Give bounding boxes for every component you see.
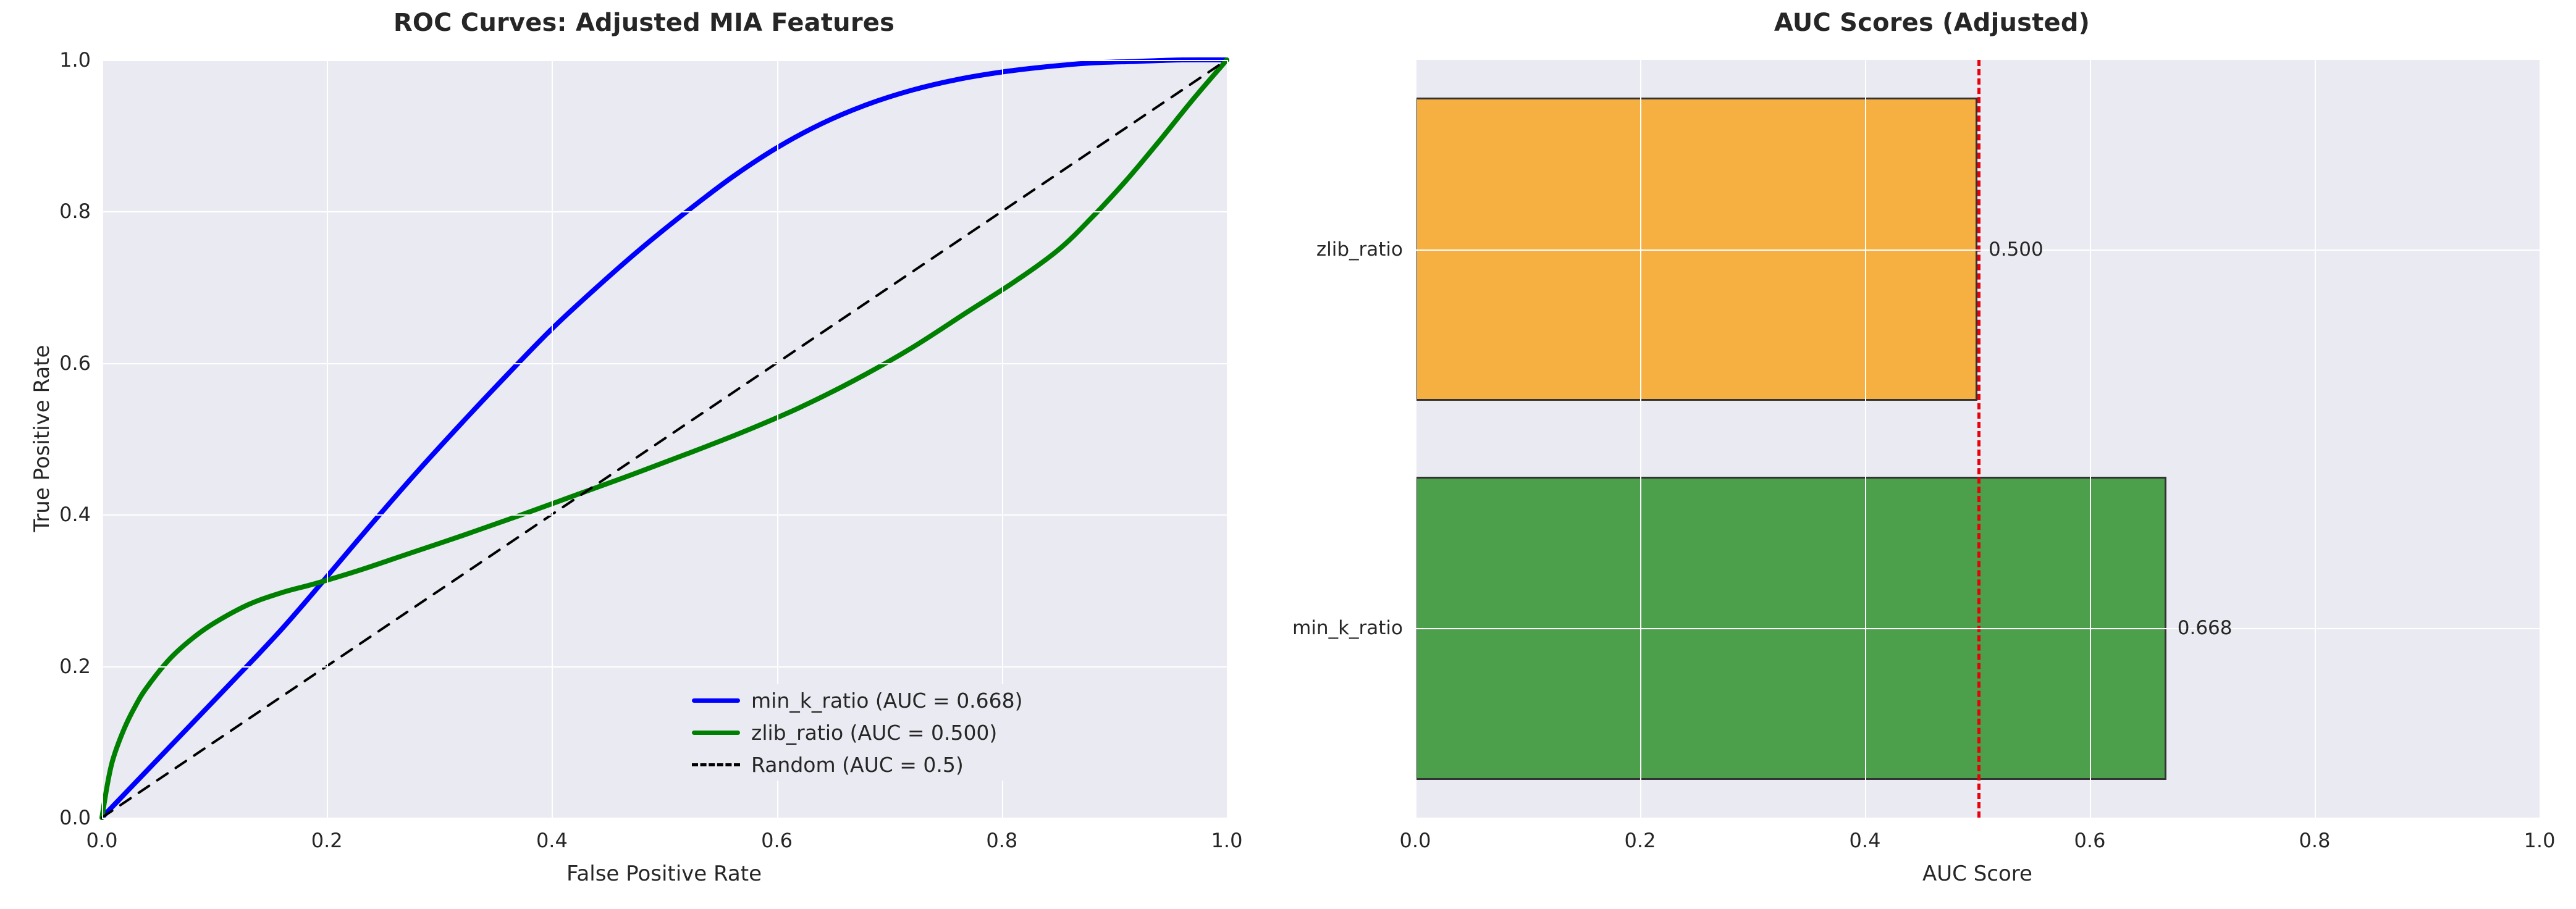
roc-xtick-label: 0.8 (986, 829, 1017, 852)
gridline-vertical (1415, 60, 1416, 818)
legend-item-label: Random (AUC = 0.5) (751, 753, 964, 777)
roc-xtick-label: 0.4 (536, 829, 568, 852)
roc-ytick-label: 1.0 (22, 48, 91, 72)
auc-reference-line (1977, 60, 1980, 818)
gridline-vertical (1865, 60, 1866, 818)
auc-category-label: zlib_ratio (1261, 238, 1403, 261)
auc-xtick-label: 0.6 (2074, 829, 2106, 852)
legend-item[interactable]: zlib_ratio (AUC = 0.500) (692, 716, 1124, 748)
roc-legend: min_k_ratio (AUC = 0.668)zlib_ratio (AUC… (692, 684, 1124, 781)
auc-xtick-label: 1.0 (2524, 829, 2556, 852)
auc-xtick-label: 0.2 (1625, 829, 1656, 852)
legend-line-icon (692, 751, 740, 778)
roc-xtick-label: 0.2 (311, 829, 343, 852)
roc-chart-title: ROC Curves: Adjusted MIA Features (0, 9, 1288, 37)
gridline-horizontal (102, 666, 1227, 668)
auc-xtick-label: 0.8 (2299, 829, 2331, 852)
gridline-vertical (1227, 60, 1228, 818)
gridline-vertical (552, 60, 553, 818)
gridline-horizontal (102, 211, 1227, 212)
legend-item-label: zlib_ratio (AUC = 0.500) (751, 721, 997, 745)
auc-chart-title: AUC Scores (Adjusted) (1288, 9, 2576, 37)
gridline-horizontal (1415, 249, 2540, 251)
auc-value-label: 0.668 (2178, 617, 2233, 639)
auc-category-label: min_k_ratio (1261, 617, 1403, 639)
panel-roc-curves: ROC Curves: Adjusted MIA Features 0.00.2… (0, 0, 1288, 909)
gridline-horizontal (102, 514, 1227, 516)
panel-auc-scores: AUC Scores (Adjusted) 0.00.20.40.60.81.0… (1288, 0, 2576, 909)
legend-item-label: min_k_ratio (AUC = 0.668) (751, 689, 1023, 713)
roc-yaxis-label: True Positive Rate (30, 345, 54, 532)
gridline-vertical (102, 60, 103, 818)
auc-plot-area (1415, 60, 2540, 818)
auc-value-label: 0.500 (1989, 238, 2044, 261)
auc-xtick-label: 0.4 (1850, 829, 1881, 852)
gridline-vertical (1640, 60, 1641, 818)
gridline-vertical (327, 60, 328, 818)
roc-ytick-label: 0.0 (22, 806, 91, 829)
legend-line-icon (692, 719, 740, 746)
gridline-vertical (2090, 60, 2091, 818)
roc-ytick-label: 0.8 (22, 199, 91, 223)
roc-xtick-label: 1.0 (1211, 829, 1243, 852)
gridline-horizontal (102, 363, 1227, 364)
legend-item[interactable]: Random (AUC = 0.5) (692, 748, 1124, 781)
legend-item[interactable]: min_k_ratio (AUC = 0.668) (692, 684, 1124, 716)
legend-line-icon (692, 687, 740, 714)
roc-xtick-label: 0.6 (761, 829, 793, 852)
figure-canvas: ROC Curves: Adjusted MIA Features 0.00.2… (0, 0, 2576, 909)
gridline-horizontal (1415, 628, 2540, 629)
gridline-horizontal (102, 818, 1227, 819)
roc-ytick-label: 0.2 (22, 655, 91, 678)
gridline-horizontal (102, 60, 1227, 61)
auc-xaxis-label: AUC Score (1922, 861, 2032, 886)
gridline-vertical (2540, 60, 2541, 818)
gridline-vertical (2315, 60, 2316, 818)
auc-xtick-label: 0.0 (1400, 829, 1431, 852)
roc-xaxis-label: False Positive Rate (566, 861, 762, 886)
roc-xtick-label: 0.0 (86, 829, 118, 852)
